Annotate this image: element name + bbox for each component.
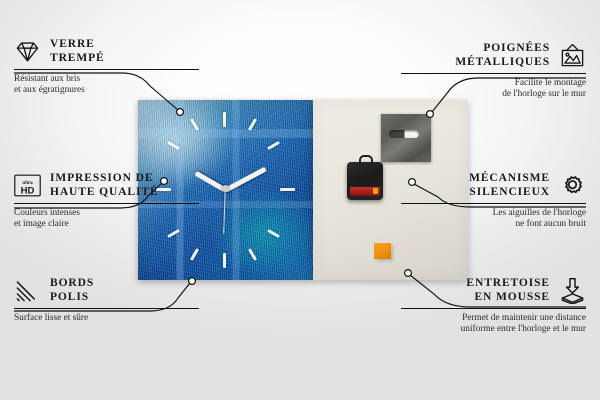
callout-subtitle: Les aiguilles de l'horloge ne font aucun… xyxy=(401,208,586,231)
callout-entretoise-en-mousse[interactable]: ENTRETOISE EN MOUSSE Permet de maintenir… xyxy=(401,277,586,336)
foam-spacer xyxy=(374,243,391,259)
diamond-icon xyxy=(14,38,41,65)
callout-bords-polis[interactable]: BORDS POLIS Surface lisse et sûre xyxy=(14,277,199,324)
clock-minute-hand xyxy=(224,167,267,193)
callout-subtitle: Permet de maintenir une distance uniform… xyxy=(401,313,586,336)
clock-mechanism xyxy=(347,162,383,200)
clock-tick xyxy=(190,118,199,131)
callout-title: ENTRETOISE EN MOUSSE xyxy=(466,277,550,304)
callout-impression-haute-qualite[interactable]: ultra HD IMPRESSION DE HAUTE QUALITÉ Cou… xyxy=(14,172,199,231)
infographic-canvas: VERRE TREMPÉ Résistant aux bris et aux é… xyxy=(0,0,600,400)
callout-subtitle: Facilite le montage de l'horloge sur le … xyxy=(401,78,586,101)
callout-title: MÉCANISME SILENCIEUX xyxy=(469,172,550,199)
clock-second-hand xyxy=(223,190,226,234)
callout-divider xyxy=(401,203,586,204)
picture-frame-hook-icon xyxy=(559,42,586,69)
callout-title: BORDS POLIS xyxy=(50,277,94,304)
mechanism-hook xyxy=(359,155,373,165)
clock-tick xyxy=(223,112,226,127)
callout-poignees-metalliques[interactable]: POIGNÉES MÉTALLIQUES Facilite le montage… xyxy=(401,42,586,101)
battery xyxy=(350,187,380,196)
polished-edges-icon xyxy=(14,277,41,304)
callout-divider xyxy=(14,203,199,204)
clock-tick xyxy=(248,248,257,261)
callout-divider xyxy=(401,308,586,309)
callout-divider xyxy=(401,73,586,74)
callout-subtitle: Couleurs intenses et image claire xyxy=(14,208,199,231)
callout-divider xyxy=(14,69,199,70)
ultra-hd-icon: ultra HD xyxy=(14,172,41,199)
clock-center-cap xyxy=(222,185,229,192)
clock-tick xyxy=(267,141,280,150)
gear-icon xyxy=(559,172,586,199)
clock-tick xyxy=(223,253,226,268)
callout-mecanisme-silencieux[interactable]: MÉCANISME SILENCIEUX Les aiguilles de l'… xyxy=(401,172,586,231)
arrow-down-pad-icon xyxy=(559,277,586,304)
clock-tick xyxy=(190,248,199,261)
clock-tick xyxy=(267,229,280,238)
clock-tick xyxy=(167,141,180,150)
callout-title: POIGNÉES MÉTALLIQUES xyxy=(455,42,550,69)
clock-tick xyxy=(280,188,295,191)
callout-divider xyxy=(14,308,199,309)
callout-title: IMPRESSION DE HAUTE QUALITÉ xyxy=(50,172,159,199)
callout-subtitle: Résistant aux bris et aux égratignures xyxy=(14,74,199,97)
svg-text:HD: HD xyxy=(21,185,35,196)
clock-tick xyxy=(248,118,257,131)
metal-hanger-plate xyxy=(381,114,431,162)
callout-subtitle: Surface lisse et sûre xyxy=(14,313,199,324)
callout-title: VERRE TREMPÉ xyxy=(50,38,105,65)
callout-verre-trempe[interactable]: VERRE TREMPÉ Résistant aux bris et aux é… xyxy=(14,38,199,97)
